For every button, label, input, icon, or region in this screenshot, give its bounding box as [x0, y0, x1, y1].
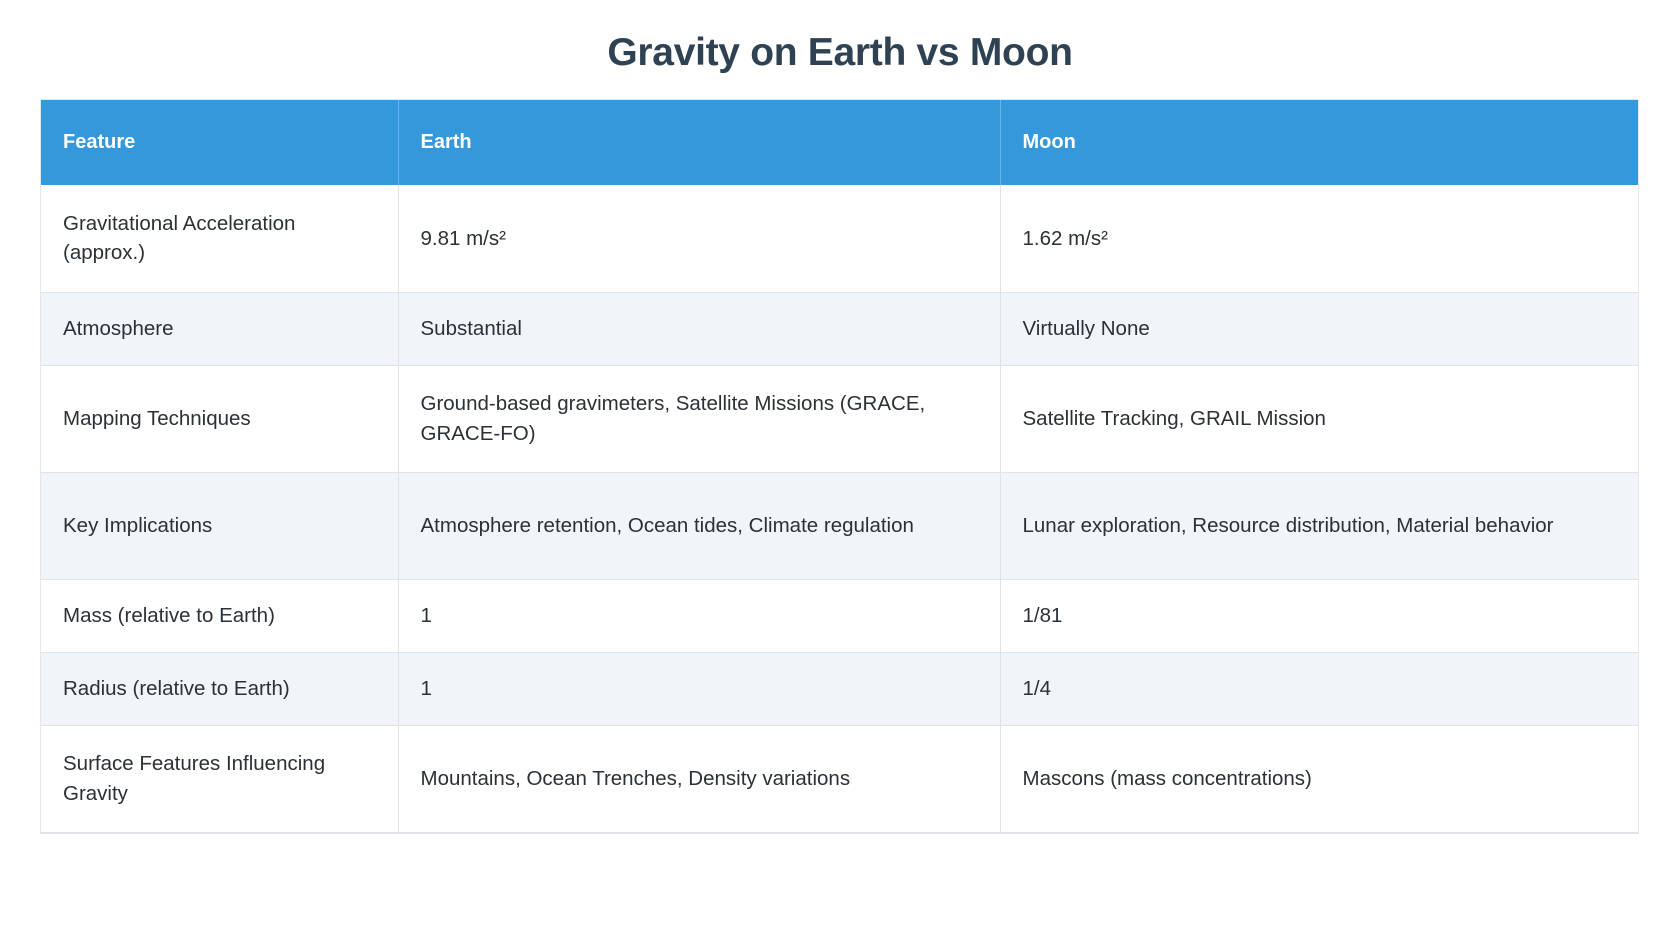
table-row: Atmosphere Substantial Virtually None: [41, 292, 1638, 365]
cell-feature: Atmosphere: [41, 292, 398, 365]
cell-feature: Surface Features Influencing Gravity: [41, 725, 398, 832]
cell-earth: 1: [398, 579, 1000, 652]
cell-earth: 9.81 m/s²: [398, 185, 1000, 292]
document-page: Gravity on Earth vs Moon Feature Earth M…: [0, 0, 1680, 928]
table-body: Gravitational Acceleration (approx.) 9.8…: [41, 185, 1638, 832]
comparison-table-container: Feature Earth Moon Gravitational Acceler…: [41, 100, 1638, 833]
cell-feature: Radius (relative to Earth): [41, 652, 398, 725]
table-row: Radius (relative to Earth) 1 1/4: [41, 652, 1638, 725]
cell-earth: Substantial: [398, 292, 1000, 365]
cell-feature: Gravitational Acceleration (approx.): [41, 185, 398, 292]
table-row: Mapping Techniques Ground-based gravimet…: [41, 365, 1638, 472]
page-title: Gravity on Earth vs Moon: [0, 0, 1680, 77]
cell-moon: Mascons (mass concentrations): [1000, 725, 1638, 832]
table-header: Feature Earth Moon: [41, 100, 1638, 185]
cell-earth: 1: [398, 652, 1000, 725]
column-header-earth[interactable]: Earth: [398, 100, 1000, 185]
cell-earth: Mountains, Ocean Trenches, Density varia…: [398, 725, 1000, 832]
cell-moon: 1.62 m/s²: [1000, 185, 1638, 292]
cell-feature: Mapping Techniques: [41, 365, 398, 472]
column-header-feature[interactable]: Feature: [41, 100, 398, 185]
table-header-row: Feature Earth Moon: [41, 100, 1638, 185]
comparison-table: Feature Earth Moon Gravitational Acceler…: [41, 100, 1638, 833]
cell-feature: Key Implications: [41, 472, 398, 579]
table-row: Surface Features Influencing Gravity Mou…: [41, 725, 1638, 832]
cell-moon: Virtually None: [1000, 292, 1638, 365]
cell-feature: Mass (relative to Earth): [41, 579, 398, 652]
cell-moon: 1/81: [1000, 579, 1638, 652]
cell-moon: 1/4: [1000, 652, 1638, 725]
column-header-moon[interactable]: Moon: [1000, 100, 1638, 185]
table-row: Mass (relative to Earth) 1 1/81: [41, 579, 1638, 652]
cell-moon: Satellite Tracking, GRAIL Mission: [1000, 365, 1638, 472]
table-row: Gravitational Acceleration (approx.) 9.8…: [41, 185, 1638, 292]
table-row: Key Implications Atmosphere retention, O…: [41, 472, 1638, 579]
cell-moon: Lunar exploration, Resource distribution…: [1000, 472, 1638, 579]
cell-earth: Ground-based gravimeters, Satellite Miss…: [398, 365, 1000, 472]
cell-earth: Atmosphere retention, Ocean tides, Clima…: [398, 472, 1000, 579]
